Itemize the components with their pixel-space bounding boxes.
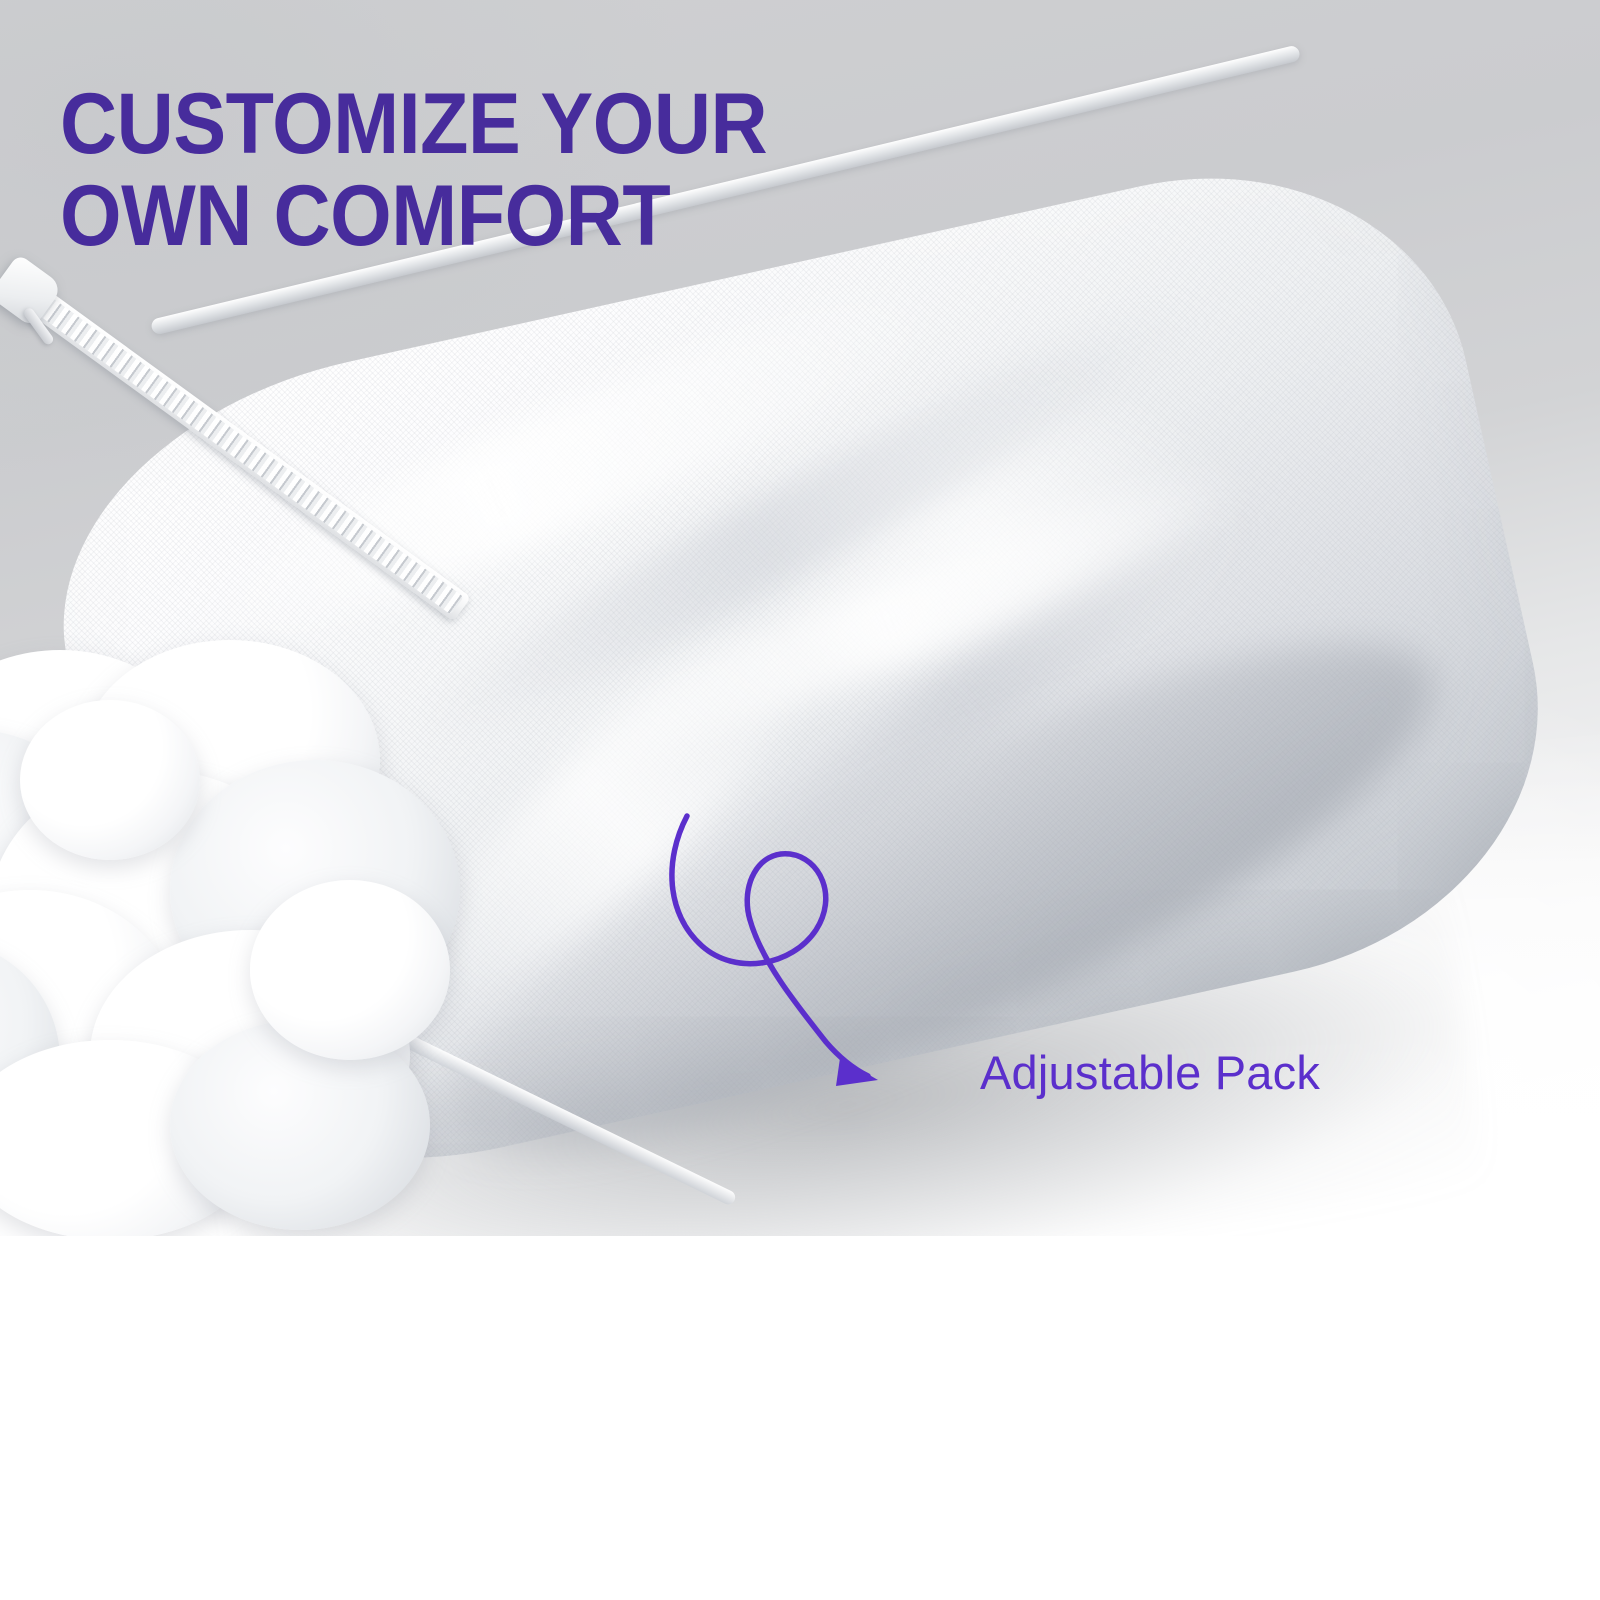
fiberfill-puff — [20, 700, 200, 860]
firmness-comparison-section: SOFTER Adjustable SUPPORTIVE — [0, 1236, 1600, 1600]
polyester-fiberfill-pile — [0, 640, 570, 1236]
hero-photo-section: CUSTOMIZE YOUR OWN COMFORT Adjustable Pa… — [0, 0, 1600, 1236]
fiberfill-puff — [250, 880, 450, 1060]
adjustable-pack-label: Adjustable Pack — [980, 1045, 1320, 1100]
page-title: CUSTOMIZE YOUR OWN COMFORT — [60, 78, 888, 262]
product-infographic: CUSTOMIZE YOUR OWN COMFORT Adjustable Pa… — [0, 0, 1600, 1600]
